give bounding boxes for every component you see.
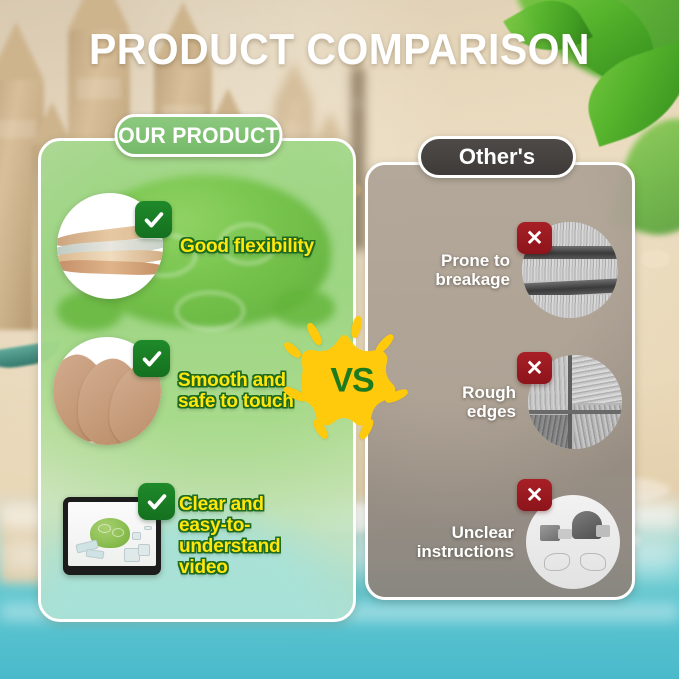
x-badge: ✕: [517, 479, 552, 511]
others-item-3-label: Unclear instructions: [410, 523, 514, 561]
check-badge: [133, 340, 170, 377]
our-product-item-1: Good flexibility: [57, 193, 330, 299]
check-badge: [135, 201, 172, 238]
diagram-sketch-decoration: [544, 553, 570, 571]
our-product-item-3-label-line4: video: [179, 557, 321, 578]
diagram-sketch-decoration: [580, 553, 606, 571]
part-photo-decoration: [558, 529, 572, 539]
others-item-2-label-line1: Rough edges: [412, 383, 516, 421]
check-icon: [141, 348, 163, 370]
part-illustration: [86, 549, 105, 559]
check-badge: [138, 483, 175, 520]
beach-pebble-decoration: [640, 250, 670, 268]
our-product-item-3-label-line3: understand: [179, 536, 321, 557]
others-item-2-label: Rough edges: [412, 383, 516, 421]
edge-gap-decoration: [528, 410, 622, 414]
our-product-item-3-label-line2: easy-to-: [179, 515, 321, 536]
part-illustration: [138, 544, 150, 556]
turtle-shell-line: [112, 528, 124, 537]
others-item-3: Unclear instructions: [410, 495, 622, 589]
vs-label: VS: [296, 362, 408, 401]
our-product-item-3: Clear and easy-to- understand video: [63, 494, 321, 578]
others-item-3-label-line2: instructions: [410, 542, 514, 561]
others-header-label: Other's: [459, 144, 535, 170]
others-item-1-label-line1: Prone to: [418, 251, 510, 270]
vs-badge: VS: [296, 326, 408, 438]
part-illustration: [144, 526, 152, 530]
our-product-header-badge: OUR PRODUCT: [115, 114, 283, 157]
rough-texture-decoration: [522, 295, 618, 318]
part-photo-decoration: [540, 525, 560, 541]
x-badge: ✕: [517, 222, 552, 254]
wood-grain-decoration: [528, 415, 572, 449]
others-item-1-label-line2: breakage: [418, 270, 510, 289]
part-photo-decoration: [596, 525, 610, 537]
our-product-item-3-label-line1: Clear and: [179, 494, 321, 515]
others-item-1-label: Prone to breakage: [418, 251, 510, 289]
page-title: PRODUCT COMPARISON: [24, 24, 655, 76]
turtle-shell-line: [98, 524, 111, 533]
check-icon: [146, 491, 168, 513]
wood-grain-decoration: [570, 355, 622, 403]
check-icon: [143, 209, 165, 231]
our-product-item-3-label: Clear and easy-to- understand video: [179, 494, 321, 578]
others-header-badge: Other's: [418, 136, 576, 178]
edge-gap-decoration: [568, 355, 572, 449]
our-product-item-1-label-text: Good flexibility: [180, 236, 314, 257]
x-icon: ✕: [526, 228, 544, 249]
rough-texture-decoration: [522, 259, 618, 281]
others-item-3-label-line1: Unclear: [410, 523, 514, 542]
x-icon: ✕: [526, 358, 544, 379]
x-badge: ✕: [517, 352, 552, 384]
our-product-header-label: OUR PRODUCT: [118, 123, 278, 149]
x-icon: ✕: [526, 485, 544, 506]
our-product-item-1-label: Good flexibility: [180, 236, 330, 257]
part-illustration: [132, 532, 141, 540]
